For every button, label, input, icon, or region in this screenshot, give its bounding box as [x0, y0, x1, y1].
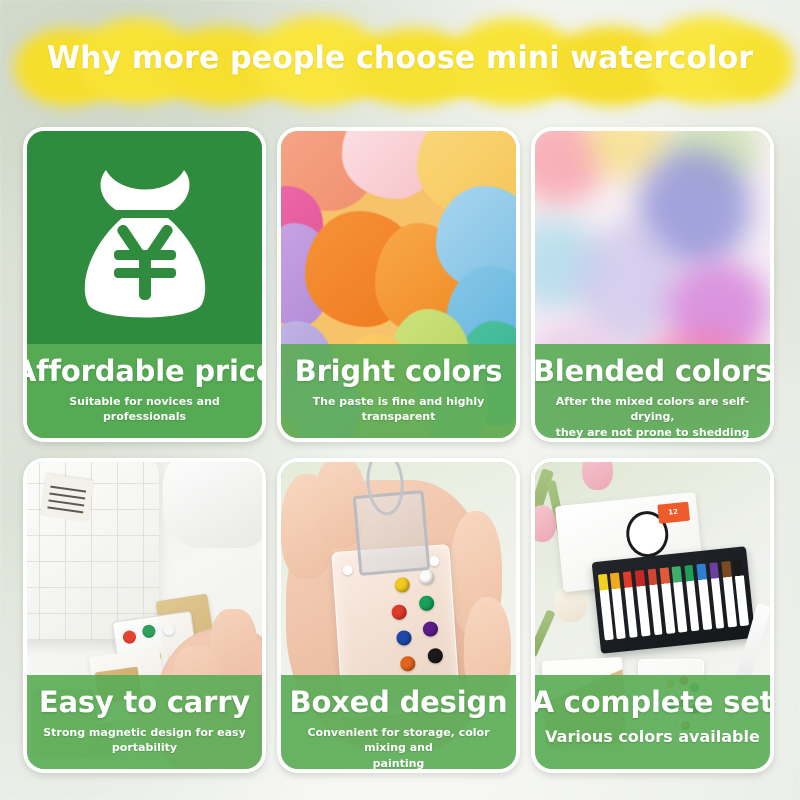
feature-card-grid: Affordable price Suitable for novices an…: [19, 119, 781, 780]
card-subtitle-line-1: After the mixed colors are self-drying,: [543, 394, 762, 424]
card-subtitle-line-2: they are not prone to shedding powder: [543, 425, 762, 438]
card-caption: A complete set Various colors available: [535, 675, 770, 769]
white-shoe: [163, 462, 262, 548]
paint-tube-tray: [592, 546, 756, 654]
card-title: Boxed design: [290, 680, 508, 724]
feature-card-boxed-design[interactable]: Boxed design Convenient for storage, col…: [273, 450, 527, 780]
money-bag-yen-icon: [27, 131, 262, 352]
card-subtitle: Strong magnetic design for easy portabil…: [35, 725, 254, 755]
feature-card-affordable-price[interactable]: Affordable price Suitable for novices an…: [19, 119, 273, 449]
card-subtitle: Suitable for novices and professionals: [35, 394, 254, 424]
card-subtitle-line-2: painting: [373, 756, 425, 769]
card-title: Blended colors: [535, 349, 770, 393]
count-badge: 12: [656, 501, 689, 523]
page-title: Why more people choose mini watercolor: [12, 0, 788, 112]
page-header: Why more people choose mini watercolor: [0, 0, 800, 112]
card-caption: Affordable price Suitable for novices an…: [27, 344, 262, 438]
card-caption: Easy to carry Strong magnetic design for…: [27, 675, 262, 769]
card-title: Affordable price: [27, 349, 262, 393]
card-title: Easy to carry: [39, 680, 250, 724]
card-subtitle: The paste is fine and highly transparent: [289, 394, 508, 424]
feature-card-easy-to-carry[interactable]: Easy to carry Strong magnetic design for…: [19, 450, 273, 780]
bag-label-tag: [41, 474, 94, 522]
feature-card-complete-set[interactable]: 12: [527, 450, 781, 780]
card-subtitle-line-1: Convenient for storage, color mixing and: [289, 725, 508, 755]
binder-clip: [353, 490, 430, 576]
card-caption: Boxed design Convenient for storage, col…: [281, 675, 516, 769]
feature-card-blended-colors[interactable]: Blended colors After the mixed colors ar…: [527, 119, 781, 449]
card-caption: Bright colors The paste is fine and high…: [281, 344, 516, 438]
card-title: A complete set: [535, 680, 770, 724]
card-title: Bright colors: [295, 349, 503, 393]
card-subtitle: Various colors available: [545, 727, 760, 747]
card-caption: Blended colors After the mixed colors ar…: [535, 344, 770, 438]
feature-card-bright-colors[interactable]: Bright colors The paste is fine and high…: [273, 119, 527, 449]
